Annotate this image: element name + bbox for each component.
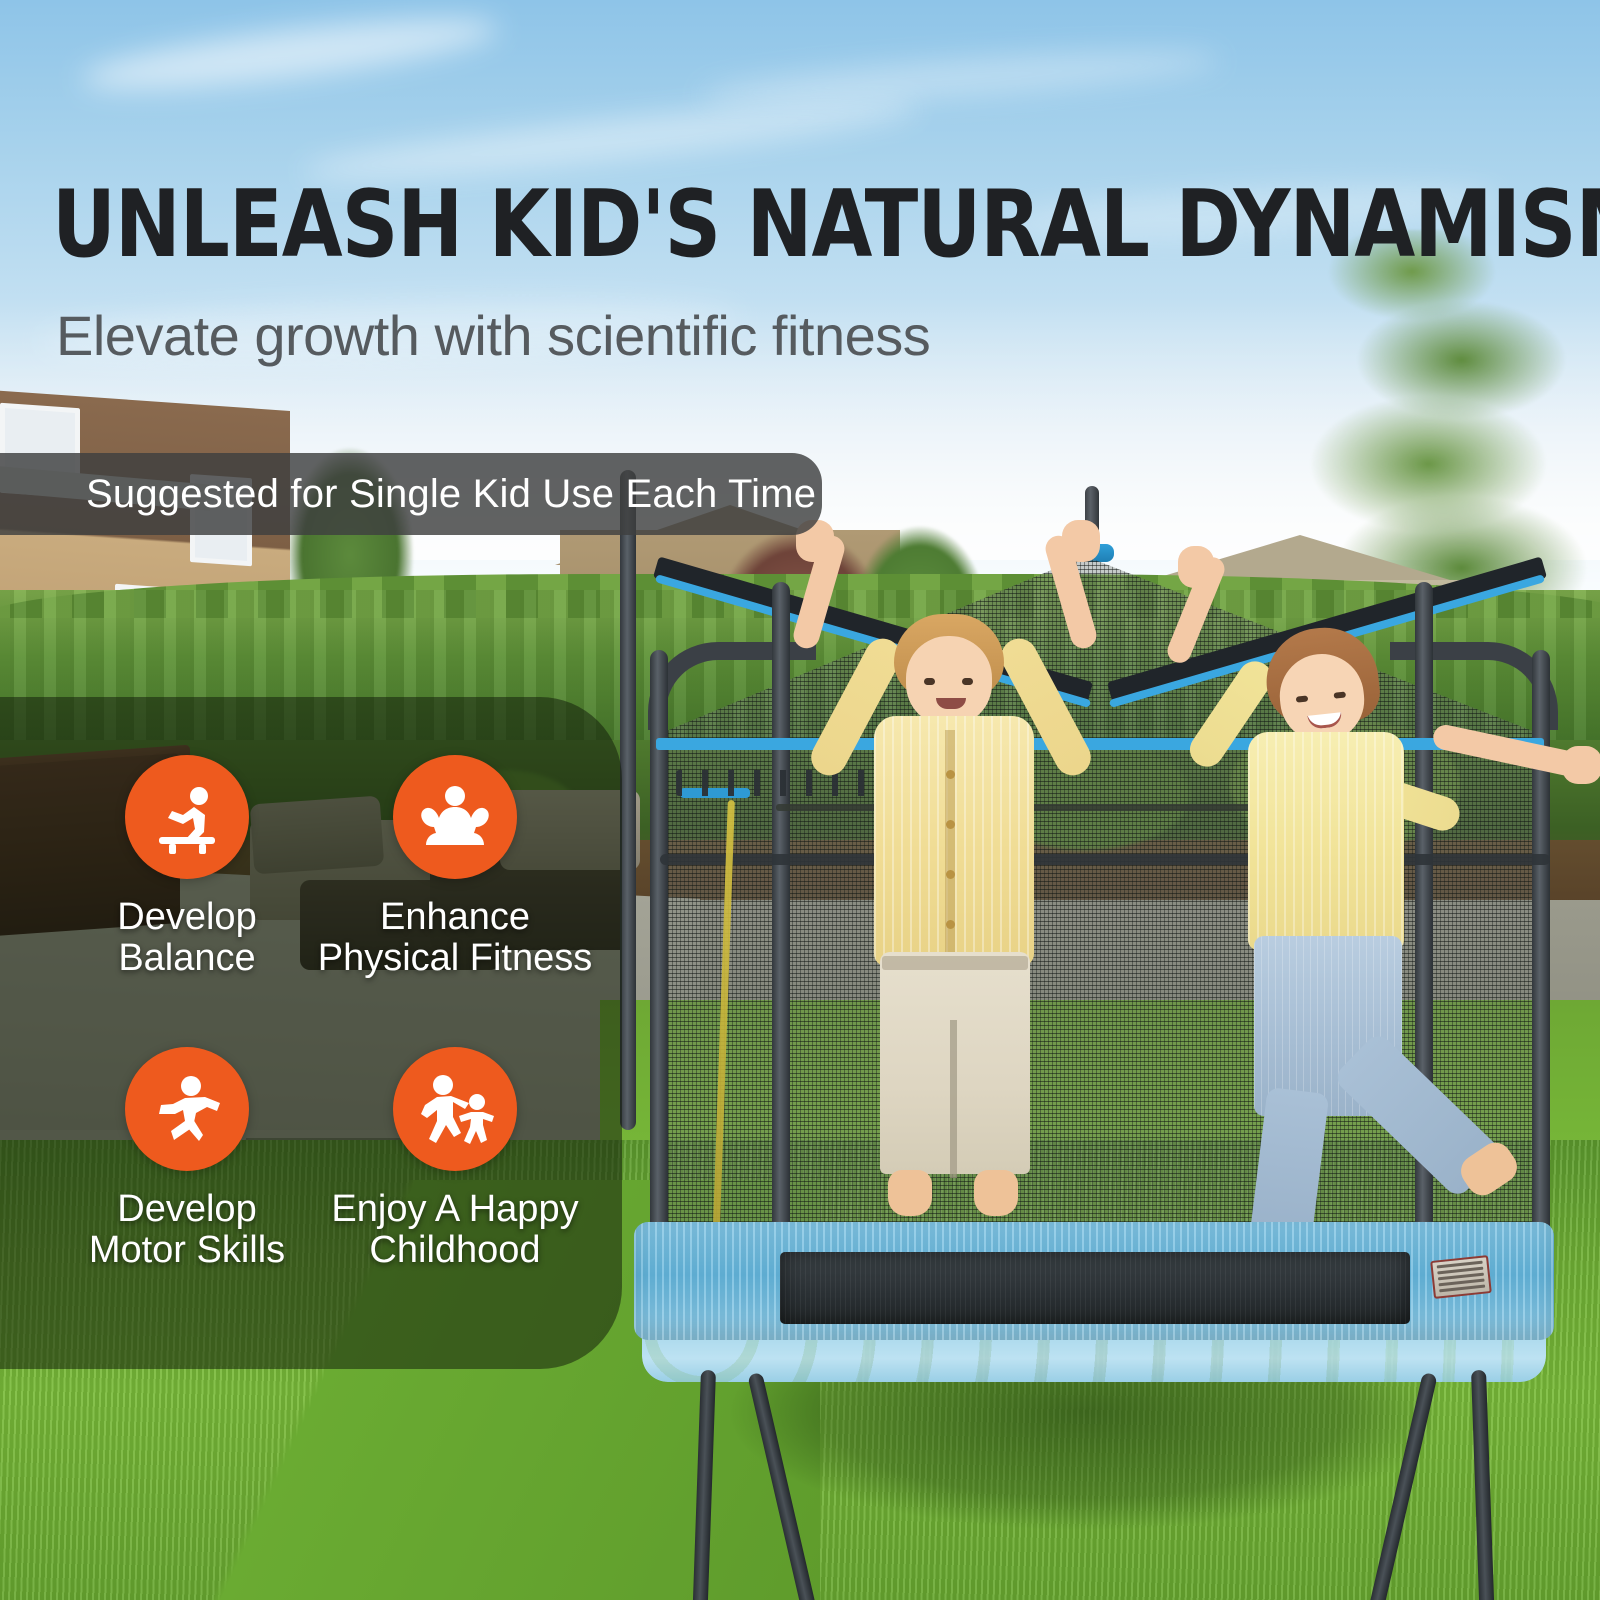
safety-warning-label [1430,1255,1492,1299]
usage-suggestion-banner: Suggested for Single Kid Use Each Time [0,453,822,535]
shirt-button [946,870,955,879]
feature-develop-motor-skills: Develop Motor Skills [42,1047,332,1271]
running-figure-icon [125,1047,249,1171]
girl-forearm-right [1431,723,1583,779]
shirt-button [946,820,955,829]
boy-foot-left [888,1170,932,1216]
mat-texture [780,1252,1410,1324]
feature-label: Develop Motor Skills [42,1189,332,1271]
feature-develop-balance: Develop Balance [42,755,332,979]
shirt-texture [1248,732,1404,950]
enclosure-pole-inner-left [772,582,790,1262]
boy-eye-left [924,678,935,685]
feature-enjoy-happy-childhood: Enjoy A Happy Childhood [310,1047,600,1271]
balance-beam-icon [125,755,249,879]
cloud [79,5,502,104]
boy-eye-right [962,678,973,685]
feature-label: Develop Balance [42,897,332,979]
feature-grid: Develop Balance Enhance Physical Fitness… [0,697,622,1369]
feature-label: Enhance Physical Fitness [310,897,600,979]
feature-enhance-physical-fitness: Enhance Physical Fitness [310,755,600,979]
page-title: UNLEASH KID'S NATURAL DYNAMISM [52,178,1490,271]
cloud [699,42,1220,114]
girl-hand-left [1178,546,1214,588]
trampoline [620,470,1580,1530]
flexing-muscle-icon [393,755,517,879]
enclosure-pole-center [620,470,636,1130]
girl-shirt [1248,732,1404,950]
adult-and-child-icon [393,1047,517,1171]
shirt-button [946,770,955,779]
girl-hand-right [1562,746,1600,784]
page-subtitle: Elevate growth with scientific fitness [56,303,930,368]
girl-eye-right [1334,692,1347,699]
shirt-button [946,920,955,929]
product-marketing-image: Develop Balance Enhance Physical Fitness… [0,0,1600,1600]
boy-jumping [790,520,1120,1220]
boy-foot-right [974,1170,1018,1216]
boy-face [906,636,992,726]
banner-text: Suggested for Single Kid Use Each Time [0,472,816,517]
girl-eye-left [1296,695,1309,702]
boy-hand-right [1062,520,1100,562]
jumping-mat [780,1252,1410,1324]
pants-seam [950,1020,957,1178]
boy-waistband [882,956,1028,970]
feature-label: Enjoy A Happy Childhood [310,1189,600,1271]
girl-jumping [1170,550,1590,1250]
